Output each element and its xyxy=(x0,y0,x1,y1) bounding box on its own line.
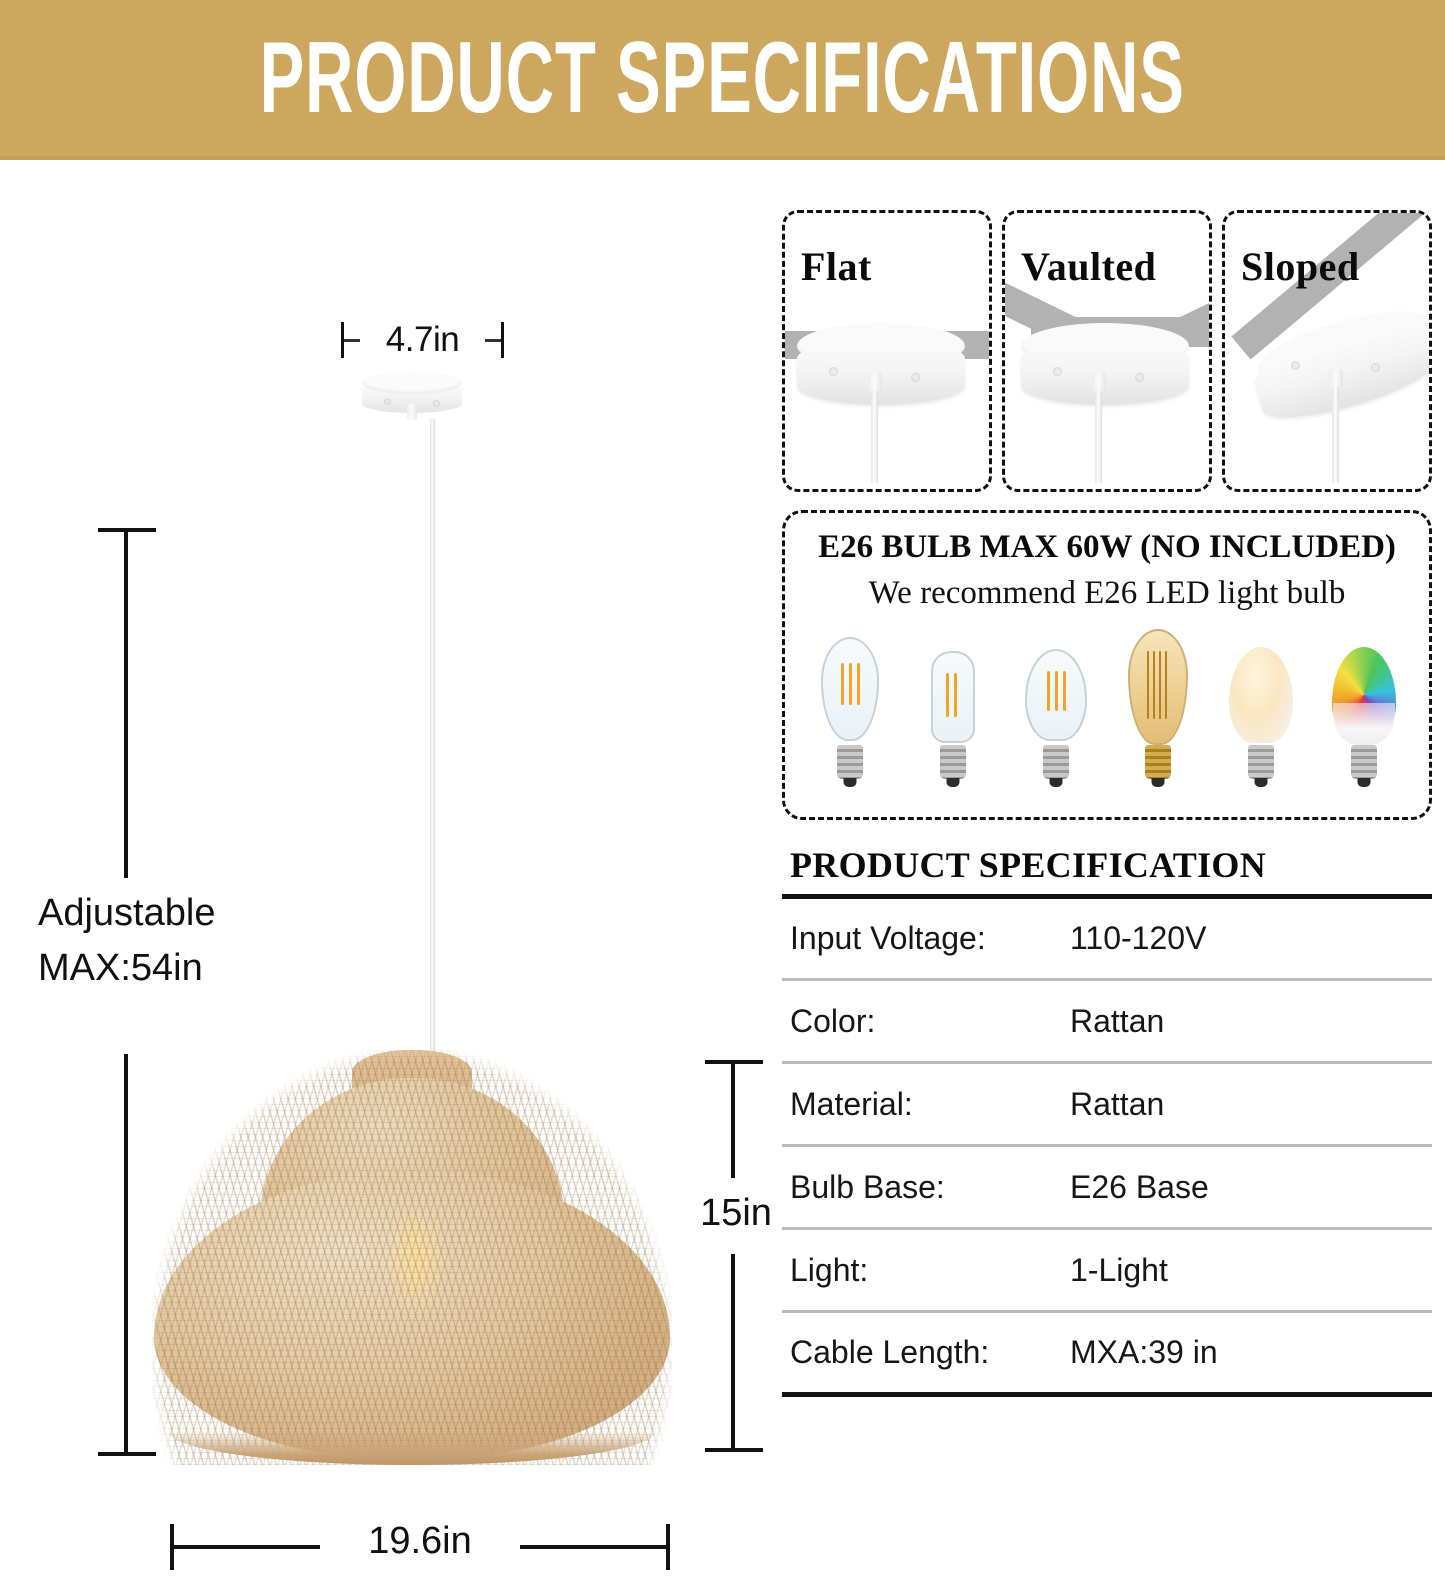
canopy-cable-nub xyxy=(1092,373,1106,393)
bulb-vintage-amber xyxy=(1119,629,1197,779)
rattan-lamp-shade xyxy=(152,1050,672,1465)
page-title: PRODUCT SPECIFICATIONS xyxy=(260,27,1185,128)
bulb-filament xyxy=(1055,671,1058,711)
product-illustration-panel: 4.7in Adjustable MAX:54in xyxy=(0,160,775,1445)
shade-width-label: 19.6in xyxy=(170,1520,670,1563)
ceiling-type-flat: Flat xyxy=(782,210,992,492)
canopy-screw xyxy=(1053,367,1062,376)
canopy-screw xyxy=(911,373,920,382)
bulb-tip xyxy=(1255,778,1268,787)
bulb-e26-base xyxy=(1351,745,1377,779)
dimension-stem-lower xyxy=(731,1254,735,1450)
bulb-a19-filament xyxy=(1017,629,1095,779)
bulb-tip xyxy=(946,778,959,787)
dimension-cap-bottom xyxy=(705,1448,763,1452)
spec-key: Color: xyxy=(782,980,1064,1063)
table-row: Cable Length: MXA:39 in xyxy=(782,1312,1432,1395)
adjustable-text-line1: Adjustable xyxy=(38,886,338,941)
bulb-rgb-smart xyxy=(1325,629,1403,779)
ceiling-type-vaulted: Vaulted xyxy=(1002,210,1212,492)
dimension-stem-upper xyxy=(731,1062,735,1178)
bulb-glass xyxy=(1229,647,1293,743)
canopy-top-cap xyxy=(362,372,462,394)
canopy-screw xyxy=(829,367,838,376)
spec-value: Rattan xyxy=(1064,1063,1432,1146)
dimension-cap-bottom xyxy=(98,1452,156,1456)
bulb-glass xyxy=(931,651,975,743)
dimension-bar-right xyxy=(485,339,501,342)
canopy-screw xyxy=(384,398,391,405)
canopy-screw xyxy=(433,400,440,407)
canopy-cable-nub xyxy=(868,373,882,393)
table-row: Input Voltage: 110-120V xyxy=(782,897,1432,980)
bulb-t45-tube xyxy=(914,629,992,779)
spec-value: Rattan xyxy=(1064,980,1432,1063)
bulb-recommendation-panel: E26 BULB MAX 60W (NO INCLUDED) We recomm… xyxy=(782,510,1432,820)
bulb-filament xyxy=(954,673,957,717)
ceiling-type-label: Sloped xyxy=(1241,243,1360,290)
bulb-filament xyxy=(841,663,844,705)
adjustable-height-label: Adjustable MAX:54in xyxy=(38,886,338,996)
specification-table: Input Voltage: 110-120V Color: Rattan Ma… xyxy=(782,894,1432,1397)
bulb-st64-filament xyxy=(811,629,889,779)
bulb-e26-base xyxy=(940,745,966,779)
spec-key: Cable Length: xyxy=(782,1312,1064,1395)
bulb-e26-base xyxy=(837,745,863,779)
bulb-filament xyxy=(857,663,860,705)
canopy-width-label: 4.7in xyxy=(335,320,510,360)
canopy-width-dimension: 4.7in xyxy=(335,322,510,372)
interior-bulb-glow xyxy=(388,1205,444,1315)
hanging-cable xyxy=(1332,387,1339,483)
spec-key: Input Voltage: xyxy=(782,897,1064,980)
ceiling-type-label: Flat xyxy=(801,243,872,290)
shade-height-label: 15in xyxy=(688,1192,784,1235)
ceiling-type-label: Vaulted xyxy=(1021,243,1156,290)
page-header-banner: PRODUCT SPECIFICATIONS xyxy=(0,0,1445,160)
canopy-cable-nub xyxy=(1329,369,1343,389)
table-row: Material: Rattan xyxy=(782,1063,1432,1146)
adjustable-text-line2: MAX:54in xyxy=(38,941,338,996)
canopy-screw xyxy=(1291,361,1300,370)
spec-key: Light: xyxy=(782,1229,1064,1312)
spec-section-title: PRODUCT SPECIFICATION xyxy=(782,844,1432,886)
canopy-screw xyxy=(1135,373,1144,382)
bulb-tip xyxy=(844,778,857,787)
bulb-tip xyxy=(1357,778,1370,787)
bulb-e26-base xyxy=(1043,745,1069,779)
dimension-bar-right xyxy=(520,1545,668,1549)
canopy-disc xyxy=(1021,339,1189,405)
hanging-cable xyxy=(430,418,435,1063)
bulb-tip xyxy=(1049,778,1062,787)
canopy-screw xyxy=(1371,363,1380,372)
dimension-stem-lower xyxy=(124,1054,128,1454)
bulb-warm-white-frosted xyxy=(1222,629,1300,779)
bulb-diffuser xyxy=(1333,703,1395,745)
shade-height-dimension xyxy=(705,1060,765,1452)
bulb-filament xyxy=(849,663,852,705)
spec-value: MXA:39 in xyxy=(1064,1312,1432,1395)
canopy-disc xyxy=(797,339,965,405)
table-row: Light: 1-Light xyxy=(782,1229,1432,1312)
bulb-glass xyxy=(1128,629,1188,745)
bulb-tip xyxy=(1152,778,1165,787)
specifications-column: Flat Vaulted xyxy=(782,210,1432,1397)
spec-value: E26 Base xyxy=(1064,1146,1432,1229)
shade-width-dimension: 19.6in xyxy=(170,1518,670,1578)
ceiling-canopy xyxy=(362,372,462,422)
bulb-e26-base xyxy=(1248,745,1274,779)
ceiling-compatibility-row: Flat Vaulted xyxy=(782,210,1432,492)
spec-value: 1-Light xyxy=(1064,1229,1432,1312)
bulb-filament xyxy=(1047,671,1050,711)
canopy-cable-nub xyxy=(407,404,417,420)
table-row: Color: Rattan xyxy=(782,980,1432,1063)
bulb-e26-base xyxy=(1145,745,1171,779)
dimension-stem-upper xyxy=(124,530,128,878)
bulb-filament xyxy=(946,673,949,717)
dimension-tick-right xyxy=(501,322,504,358)
shade-bottom-rim xyxy=(168,1431,656,1465)
product-specification-section: PRODUCT SPECIFICATION Input Voltage: 110… xyxy=(782,844,1432,1397)
hanging-cable xyxy=(1095,391,1102,483)
bulb-type-row xyxy=(799,629,1415,779)
spec-value: 110-120V xyxy=(1064,897,1432,980)
ceiling-type-sloped: Sloped xyxy=(1222,210,1432,492)
dimension-bar-left xyxy=(344,339,360,342)
bulb-filament xyxy=(1063,671,1066,711)
bulb-panel-subtitle: We recommend E26 LED light bulb xyxy=(799,575,1415,613)
spec-key: Material: xyxy=(782,1063,1064,1146)
dimension-bar-left xyxy=(172,1545,320,1549)
bulb-panel-title: E26 BULB MAX 60W (NO INCLUDED) xyxy=(799,529,1415,567)
hanging-cable xyxy=(871,391,878,483)
table-row: Bulb Base: E26 Base xyxy=(782,1146,1432,1229)
spec-key: Bulb Base: xyxy=(782,1146,1064,1229)
